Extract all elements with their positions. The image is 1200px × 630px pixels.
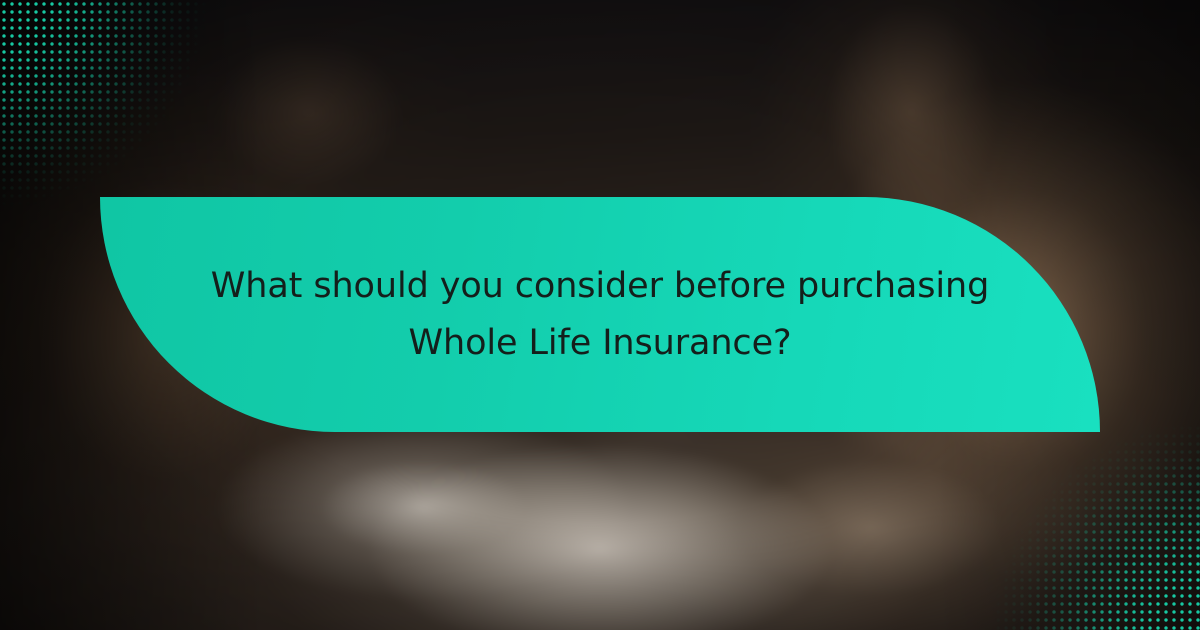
title-line-2: Whole Life Insurance? <box>170 315 1030 372</box>
title-line-1: What should you consider before purchasi… <box>170 258 1030 315</box>
page-title: What should you consider before purchasi… <box>170 258 1030 372</box>
social-card: What should you consider before purchasi… <box>0 0 1200 630</box>
headline-banner: What should you consider before purchasi… <box>100 197 1100 432</box>
